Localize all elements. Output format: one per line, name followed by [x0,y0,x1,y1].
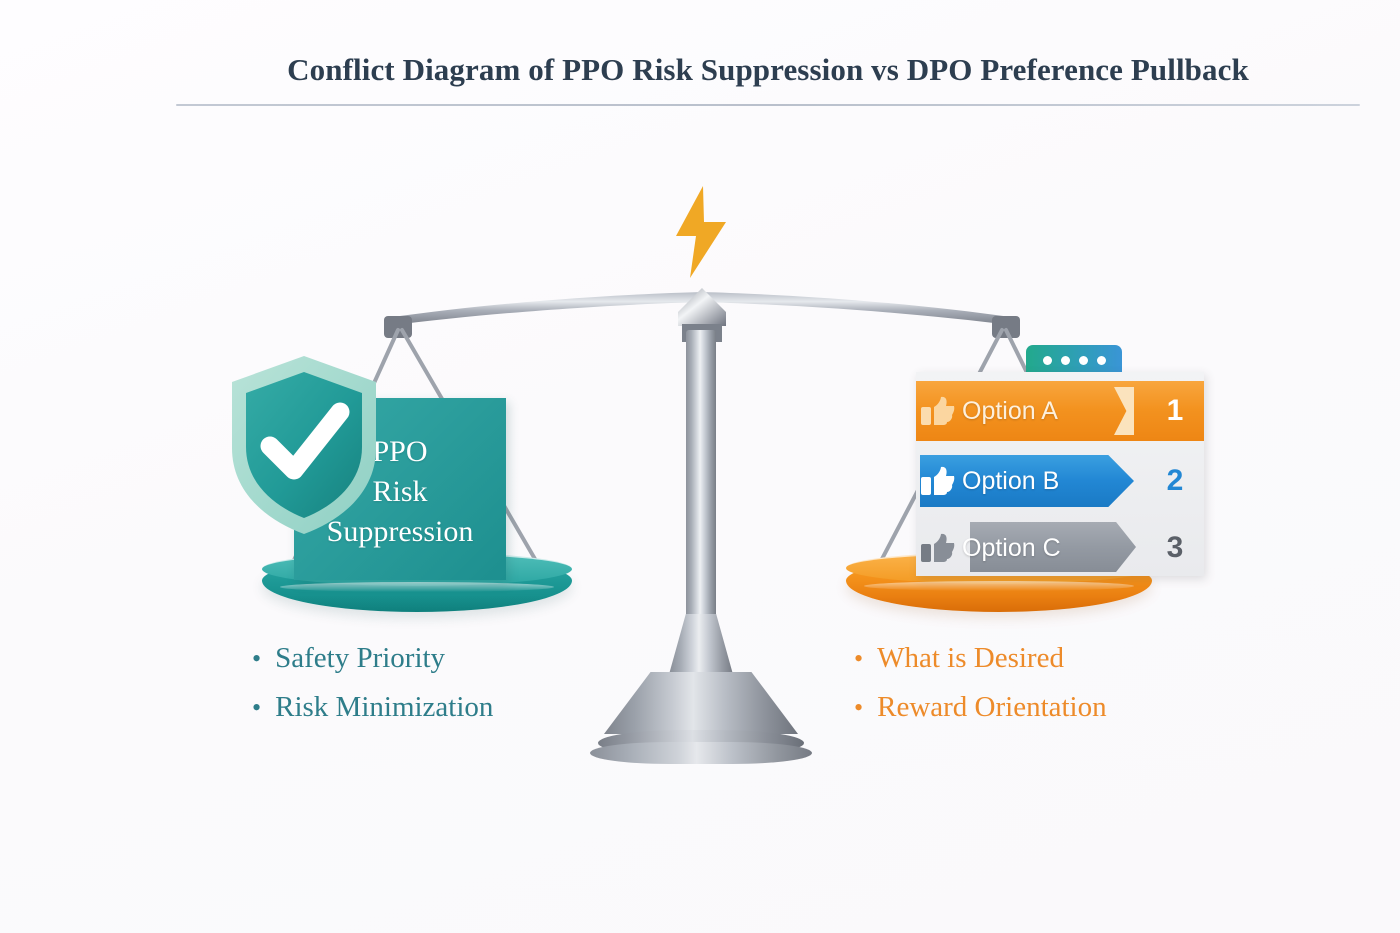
thumbs-up-icon [916,466,960,496]
right-bullet-label-1: What is Desired [877,642,1064,675]
option-c-label: Option C [960,534,1146,563]
scale-column [686,330,716,662]
list-item: • Risk Minimization [252,691,493,724]
right-bullet-label-2: Reward Orientation [877,691,1107,724]
lightning-bolt-icon [672,186,730,278]
ranking-row-option-a[interactable]: Option A 1 [916,381,1204,441]
left-bullet-label-2: Risk Minimization [275,691,493,724]
bullet-marker: • [854,695,863,721]
option-a-rank: 1 [1146,394,1204,428]
option-a-label: Option A [960,397,1146,426]
bullet-marker: • [252,695,261,721]
option-b-label: Option B [960,467,1146,496]
list-item: • What is Desired [854,642,1107,675]
tab-dot-4 [1097,356,1106,365]
ranking-row-option-c[interactable]: Option C 3 [916,519,1204,577]
shield-check-icon [228,352,380,538]
right-bullet-list: • What is Desired • Reward Orientation [854,642,1107,740]
scale-base-cone [604,672,798,734]
scale-base-plate [590,742,812,764]
left-bullet-label-1: Safety Priority [275,642,445,675]
option-c-rank: 3 [1146,531,1204,565]
diagram-canvas: Conflict Diagram of PPO Risk Suppression… [0,0,1400,933]
thumbs-up-icon [916,533,960,563]
scale-column-taper [668,614,734,678]
tab-dot-1 [1043,356,1052,365]
left-bullet-list: • Safety Priority • Risk Minimization [252,642,493,740]
list-item: • Reward Orientation [854,691,1107,724]
ppo-card-line-2: Risk [372,472,427,512]
list-item: • Safety Priority [252,642,493,675]
right-pan-highlight [864,581,1134,591]
left-pan-highlight [280,582,554,592]
ppo-card-line-1: PPO [372,432,427,472]
bullet-marker: • [854,646,863,672]
balance-scale-graphic: PPO Risk Suppression [0,0,1400,933]
tab-dot-2 [1061,356,1070,365]
bullet-marker: • [252,646,261,672]
ranking-card-tab [1026,345,1122,375]
ranking-row-option-b[interactable]: Option B 2 [916,452,1204,510]
thumbs-up-icon [916,396,960,426]
option-b-rank: 2 [1146,464,1204,498]
tab-dot-3 [1079,356,1088,365]
